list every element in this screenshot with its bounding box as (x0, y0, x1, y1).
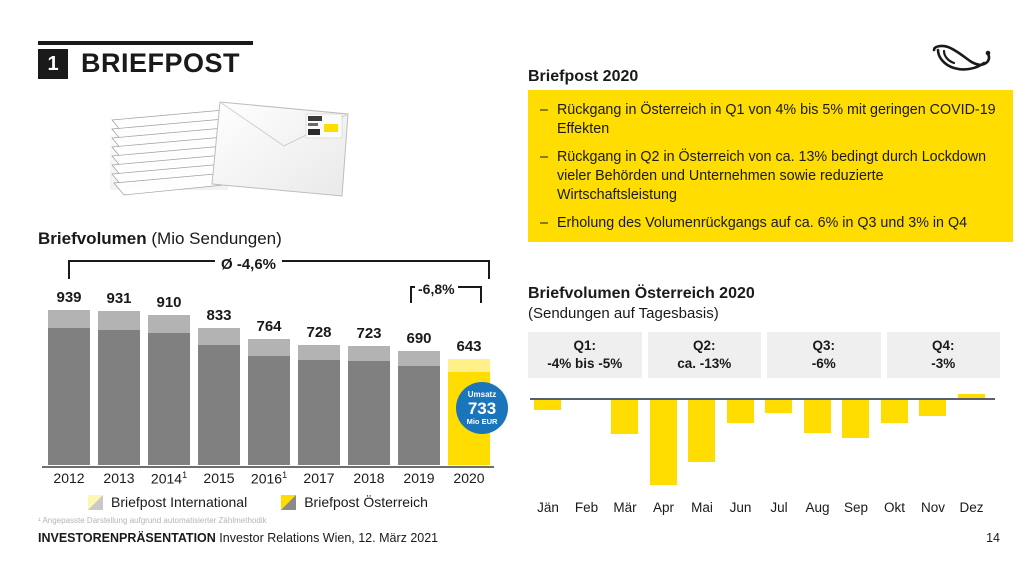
bar-2016 (248, 339, 290, 465)
monthly-x-label-okt: Okt (875, 500, 915, 515)
monthly-x-label-jän: Jän (528, 500, 568, 515)
bar-segment-domestic (148, 333, 190, 465)
monthly-bar-jun (727, 398, 754, 423)
bar-2019 (398, 351, 440, 465)
highlight-bullet: –Rückgang in Q2 in Österreich von ca. 13… (540, 148, 999, 205)
footer-strong: INVESTORENPRÄSENTATION (38, 531, 216, 545)
bullet-dash-icon: – (540, 148, 548, 205)
quarter-label: Q1: (530, 337, 640, 355)
quarter-value: -3% (889, 355, 999, 373)
bar-value-label: 833 (193, 307, 245, 324)
quarter-box: Q2:ca. -13% (648, 332, 762, 378)
monthly-x-label-sep: Sep (836, 500, 876, 515)
x-label-2013: 2013 (93, 470, 145, 486)
monthly-x-label-aug: Aug (798, 500, 838, 515)
average-change-label: Ø -4,6% (215, 256, 282, 273)
page-title: BRIEFPOST (81, 48, 240, 79)
monthly-x-labels: JänFebMärAprMaiJunJulAugSepOktNovDez (530, 500, 995, 520)
bar-value-label: 643 (443, 338, 495, 355)
monthly-bar-jän (534, 398, 561, 410)
bar-2012 (48, 310, 90, 465)
bar-2013 (98, 311, 140, 465)
monthly-x-label-mär: Mär (605, 500, 645, 515)
bar-segment-domestic (398, 366, 440, 465)
bar-segment-international (248, 339, 290, 356)
monthly-bar-jul (765, 398, 792, 413)
bullet-text: Erholung des Volumenrückgangs auf ca. 6%… (557, 214, 967, 233)
x-label-2015: 2015 (193, 470, 245, 486)
left-chart-title: Briefvolumen (Mio Sendungen) (38, 229, 282, 249)
bar-segment-international (148, 315, 190, 333)
legend-label-domestic: Briefpost Österreich (304, 494, 428, 510)
monthly-bar-aug (804, 398, 831, 433)
revenue-badge-unit: Mio EUR (467, 418, 498, 426)
bar-segment-international (98, 311, 140, 330)
revenue-badge-caption: Umsatz (468, 391, 496, 399)
quarter-summary-row: Q1:-4% bis -5%Q2:ca. -13%Q3:-6%Q4:-3% (528, 332, 1000, 378)
monthly-zero-line (530, 398, 995, 400)
quarter-value: -6% (769, 355, 879, 373)
bullet-text: Rückgang in Q2 in Österreich von ca. 13%… (557, 148, 999, 205)
chart-footnote: ¹ Angepasste Darstellung aufgrund automa… (38, 516, 267, 525)
left-chart-title-unit: (Mio Sendungen) (151, 229, 281, 248)
quarter-value: ca. -13% (650, 355, 760, 373)
quarter-box: Q1:-4% bis -5% (528, 332, 642, 378)
bar-value-label: 728 (293, 324, 345, 341)
monthly-bar-mär (611, 398, 638, 434)
highlight-bullet: –Rückgang in Österreich in Q1 von 4% bis… (540, 101, 999, 139)
page-number: 14 (986, 531, 1000, 545)
chart-legend: Briefpost International Briefpost Österr… (88, 494, 428, 510)
monthly-x-label-nov: Nov (913, 500, 953, 515)
bar-2018 (348, 346, 390, 465)
legend-swatch-icon (281, 495, 296, 510)
monthly-bar-nov (919, 398, 946, 416)
bar-value-label: 723 (343, 325, 395, 342)
highlights-box: –Rückgang in Österreich in Q1 von 4% bis… (528, 90, 1013, 242)
quarter-value: -4% bis -5% (530, 355, 640, 373)
bar-value-label: 939 (43, 289, 95, 306)
monthly-bar-sep (842, 398, 869, 438)
envelope-stack-photo (92, 84, 384, 202)
bar-segment-international (198, 328, 240, 345)
legend-label-international: Briefpost International (111, 494, 247, 510)
footer-text: INVESTORENPRÄSENTATION Investor Relation… (38, 531, 438, 545)
bar-segment-international (348, 346, 390, 361)
footer-rest: Investor Relations Wien, 12. März 2021 (219, 531, 438, 545)
bar-segment-international (48, 310, 90, 328)
bullet-text: Rückgang in Österreich in Q1 von 4% bis … (557, 101, 999, 139)
legend-item-domestic: Briefpost Österreich (281, 494, 428, 510)
chapter-number-badge: 1 (38, 49, 68, 79)
bar-2017 (298, 345, 340, 465)
monthly-bar-apr (650, 398, 677, 485)
left-chart-title-bold: Briefvolumen (38, 229, 147, 248)
monthly-bar-mai (688, 398, 715, 462)
monthly-x-label-jul: Jul (759, 500, 799, 515)
bullet-dash-icon: – (540, 101, 548, 139)
last-year-change-label: -6,8% (415, 281, 458, 297)
slide-header: 1 BRIEFPOST (38, 48, 240, 79)
bar-segment-domestic (298, 360, 340, 465)
bar-segment-international (298, 345, 340, 360)
x-label-2012: 2012 (43, 470, 95, 486)
austrian-post-horn-logo (930, 44, 994, 80)
monthly-x-label-mai: Mai (682, 500, 722, 515)
revenue-badge: Umsatz 733 Mio EUR (456, 382, 508, 434)
quarter-box: Q4:-3% (887, 332, 1001, 378)
title-rule (38, 41, 253, 45)
monthly-x-label-dez: Dez (952, 500, 992, 515)
x-label-2019: 2019 (393, 470, 445, 486)
right-box-title: Briefpost 2020 (528, 68, 638, 86)
legend-swatch-icon (88, 495, 103, 510)
highlight-bullet: –Erholung des Volumenrückgangs auf ca. 6… (540, 214, 999, 233)
bar-2014 (148, 315, 190, 465)
legend-item-international: Briefpost International (88, 494, 247, 510)
bar-value-label: 910 (143, 294, 195, 311)
quarter-label: Q2: (650, 337, 760, 355)
revenue-badge-value: 733 (468, 400, 496, 417)
monthly-chart-title: Briefvolumen Österreich 2020 (528, 285, 755, 303)
monthly-x-label-jun: Jun (721, 500, 761, 515)
x-label-2020: 2020 (443, 470, 495, 486)
bar-segment-domestic (198, 345, 240, 465)
quarter-label: Q4: (889, 337, 999, 355)
bar-segment-international (448, 359, 490, 372)
x-label-2017: 2017 (293, 470, 345, 486)
bar-segment-domestic (98, 330, 140, 465)
monthly-x-label-apr: Apr (644, 500, 684, 515)
x-label-2018: 2018 (343, 470, 395, 486)
x-label-2016: 20161 (243, 470, 295, 487)
bar-segment-domestic (248, 356, 290, 465)
bar-segment-international (398, 351, 440, 365)
bar-value-label: 690 (393, 330, 445, 347)
monthly-chart-subtitle: (Sendungen auf Tagesbasis) (528, 305, 719, 322)
briefvolumen-bar-chart: 939931910833764728723690643 (42, 300, 492, 465)
monthly-bar-okt (881, 398, 908, 423)
x-label-2014: 20141 (143, 470, 195, 487)
quarter-label: Q3: (769, 337, 879, 355)
chart-x-axis (42, 466, 494, 468)
bar-value-label: 764 (243, 318, 295, 335)
quarter-box: Q3:-6% (767, 332, 881, 378)
bar-value-label: 931 (93, 290, 145, 307)
bar-segment-domestic (48, 328, 90, 465)
bar-segment-domestic (348, 361, 390, 465)
slide: 1 BRIEFPOST (0, 0, 1024, 576)
chart-x-labels: 20122013201412015201612017201820192020 (42, 470, 494, 492)
bar-2015 (198, 328, 240, 465)
monthly-bar-chart (530, 386, 995, 496)
bullet-dash-icon: – (540, 214, 548, 233)
monthly-x-label-feb: Feb (567, 500, 607, 515)
